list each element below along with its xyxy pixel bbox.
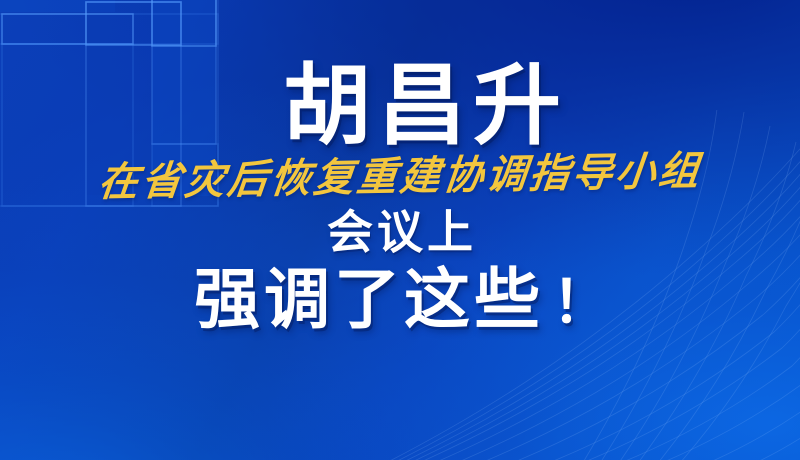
poster-emphasis-punctuation: ！ (552, 274, 610, 332)
poster-emphasis-row: 强调了这些 ！ (190, 266, 610, 332)
poster-subline: 会议上 (323, 208, 477, 256)
poster-canvas: 胡昌升 在省灾后恢复重建协调指导小组 会议上 强调了这些 ！ (0, 0, 800, 460)
poster-headline: 胡昌升 (276, 62, 568, 150)
poster-calligraphy-subtitle: 在省灾后恢复重建协调指导小组 (96, 150, 704, 204)
poster-text-block: 胡昌升 在省灾后恢复重建协调指导小组 会议上 强调了这些 ！ (0, 0, 800, 460)
poster-emphasis-text: 强调了这些 (190, 266, 544, 332)
